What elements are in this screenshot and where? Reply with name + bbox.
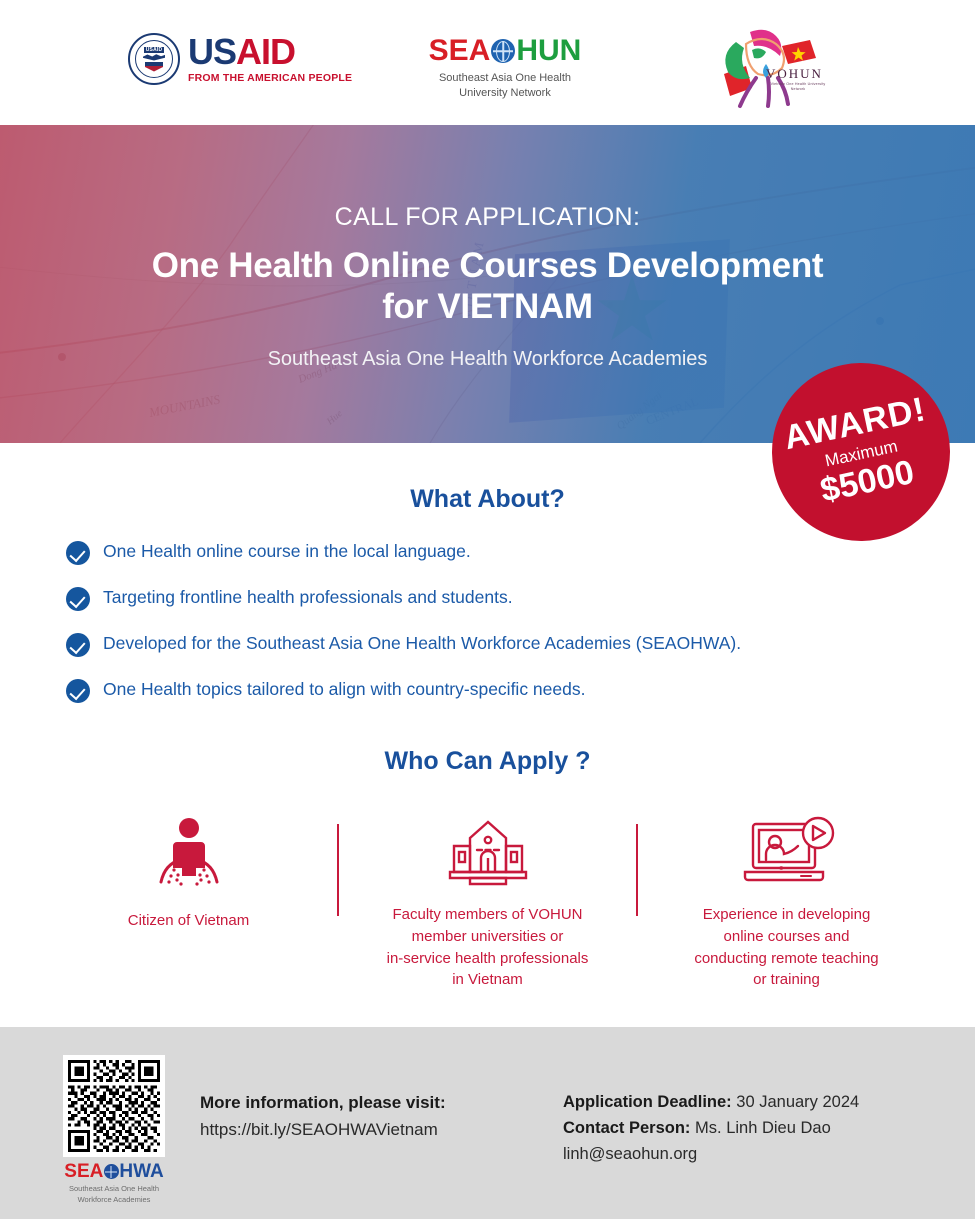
- more-information-label: More information, please visit:: [200, 1093, 446, 1113]
- person-citizen-icon: [56, 816, 321, 888]
- more-information-url[interactable]: https://bit.ly/SEAOHWAVietnam: [200, 1120, 446, 1140]
- list-item: Developed for the Southeast Asia One Hea…: [66, 632, 975, 657]
- qr-logo-block: SEA HWA Southeast Asia One Health Workfo…: [58, 1055, 170, 1205]
- globe-icon: [491, 39, 515, 63]
- deadline-line: Application Deadline: 30 January 2024: [563, 1093, 859, 1112]
- who-column-label: Experience in developing online courses …: [654, 904, 919, 991]
- university-building-icon: [355, 816, 620, 888]
- usaid-tagline: FROM THE AMERICAN PEOPLE: [188, 72, 352, 84]
- globe-icon: [104, 1164, 119, 1179]
- vohun-wordmark: VOHUN: [766, 66, 823, 82]
- seaohun-word-sea: SEA: [429, 36, 491, 66]
- list-item-label: Developed for the Southeast Asia One Hea…: [103, 632, 741, 656]
- seaohwa-word-sea: SEA: [64, 1162, 103, 1181]
- deadline-value: 30 January 2024: [736, 1093, 859, 1111]
- who-can-apply-title: Who Can Apply ?: [0, 747, 975, 776]
- seaohun-word-hun: HUN: [516, 36, 581, 66]
- contact-block: Application Deadline: 30 January 2024 Co…: [563, 1093, 859, 1171]
- seaohun-wordmark: SEA HUN: [420, 36, 590, 66]
- list-item-label: One Health online course in the local la…: [103, 540, 471, 564]
- usaid-wordmark: USAID: [188, 34, 352, 70]
- hero-title: One Health Online Courses Development fo…: [0, 246, 975, 328]
- seaohun-subtitle-line1: Southeast Asia One Health: [420, 71, 590, 86]
- seaohun-subtitle-line2: University Network: [420, 86, 590, 101]
- seaohun-logo: SEA HUN Southeast Asia One Health Univer…: [420, 36, 590, 101]
- usaid-word-aid: AID: [236, 31, 295, 72]
- hero-title-line1: One Health Online Courses Development: [0, 246, 975, 287]
- contact-person-label: Contact Person:: [563, 1119, 690, 1137]
- footer-bar: SEA HWA Southeast Asia One Health Workfo…: [0, 1027, 975, 1219]
- usaid-logo: USAID USAID FROM THE AMERICAN PEOPLE: [128, 33, 352, 85]
- usaid-handshake-icon: [143, 54, 165, 61]
- hero-title-line2: for VIETNAM: [0, 287, 975, 328]
- list-item: One Health online course in the local la…: [66, 540, 975, 565]
- who-column-label: Faculty members of VOHUN member universi…: [355, 904, 620, 991]
- check-circle-icon: [66, 679, 90, 703]
- seaohwa-word-hwa: HWA: [119, 1162, 163, 1181]
- list-item: Targeting frontline health professionals…: [66, 586, 975, 611]
- who-column-label: Citizen of Vietnam: [56, 910, 321, 932]
- seaohwa-subtitle-line1: Southeast Asia One Health: [58, 1184, 170, 1195]
- laptop-online-teaching-icon: [654, 816, 919, 888]
- seaohwa-logo: SEA HWA Southeast Asia One Health Workfo…: [58, 1162, 170, 1205]
- check-circle-icon: [66, 633, 90, 657]
- list-item-label: Targeting frontline health professionals…: [103, 586, 513, 610]
- who-column-faculty: Faculty members of VOHUN member universi…: [339, 816, 636, 991]
- hero-content: CALL FOR APPLICATION: One Health Online …: [0, 125, 975, 371]
- usaid-seal-label: USAID: [144, 47, 165, 53]
- who-can-apply-row: Citizen of Vietnam Facul: [0, 816, 975, 991]
- seaohwa-wordmark: SEA HWA: [58, 1162, 170, 1181]
- usaid-seal-icon: USAID: [128, 33, 180, 85]
- list-item: One Health topics tailored to align with…: [66, 678, 975, 703]
- seaohwa-subtitle: Southeast Asia One Health Workforce Acad…: [58, 1184, 170, 1205]
- logo-bar: USAID USAID FROM THE AMERICAN PEOPLE SEA…: [0, 0, 975, 125]
- check-circle-icon: [66, 541, 90, 565]
- more-information-block: More information, please visit: https://…: [200, 1093, 446, 1140]
- hero-kicker: CALL FOR APPLICATION:: [0, 203, 975, 232]
- usaid-word-us: US: [188, 31, 236, 72]
- what-about-list: One Health online course in the local la…: [0, 540, 975, 703]
- contact-person-value: Ms. Linh Dieu Dao: [695, 1119, 831, 1137]
- hero-subtitle: Southeast Asia One Health Workforce Acad…: [0, 348, 975, 371]
- deadline-label: Application Deadline:: [563, 1093, 732, 1111]
- qr-code[interactable]: [63, 1055, 165, 1157]
- usaid-shield-icon: [145, 62, 163, 72]
- vohun-logo: VOHUN Vietnam One Health University Netw…: [706, 22, 831, 110]
- seaohwa-subtitle-line2: Workforce Academies: [58, 1195, 170, 1206]
- who-column-citizen: Citizen of Vietnam: [40, 816, 337, 932]
- contact-person-line: Contact Person: Ms. Linh Dieu Dao: [563, 1119, 859, 1138]
- list-item-label: One Health topics tailored to align with…: [103, 678, 585, 702]
- seaohun-subtitle: Southeast Asia One Health University Net…: [420, 71, 590, 101]
- who-column-experience: Experience in developing online courses …: [638, 816, 935, 991]
- check-circle-icon: [66, 587, 90, 611]
- poster-page: USAID USAID FROM THE AMERICAN PEOPLE SEA…: [0, 0, 975, 1219]
- contact-email[interactable]: linh@seaohun.org: [563, 1145, 859, 1164]
- vohun-subtitle: Vietnam One Health University Network: [768, 82, 828, 93]
